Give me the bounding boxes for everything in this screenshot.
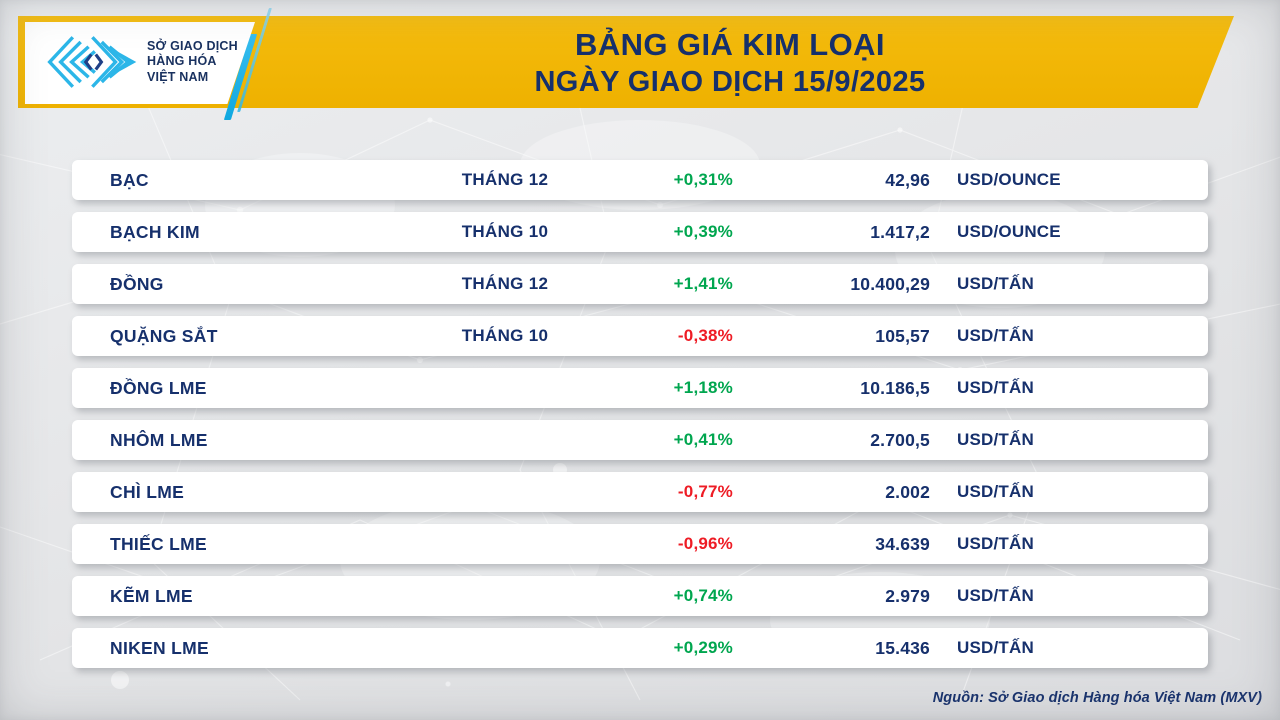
row-unit: USD/TẤN bbox=[957, 534, 1034, 554]
row-metal-name: ĐỒNG bbox=[110, 274, 164, 295]
row-change-percent: +0,74% bbox=[613, 586, 733, 606]
logo-text: SỞ GIAO DỊCH HÀNG HÓA VIỆT NAM bbox=[147, 39, 238, 86]
table-row[interactable]: QUẶNG SẮTTHÁNG 10-0,38%105,57USD/TẤN bbox=[72, 316, 1208, 356]
row-change-percent: +1,18% bbox=[613, 378, 733, 398]
price-table: BẠCTHÁNG 12+0,31%42,96USD/OUNCEBẠCH KIMT… bbox=[72, 160, 1208, 680]
row-unit: USD/OUNCE bbox=[957, 170, 1061, 190]
row-price: 2.979 bbox=[760, 586, 930, 607]
row-change-percent: +0,41% bbox=[613, 430, 733, 450]
row-price: 2.700,5 bbox=[760, 430, 930, 451]
logo: ™ SỞ GIAO DỊCH HÀNG HÓA VIỆT NAM bbox=[45, 33, 238, 91]
row-unit: USD/TẤN bbox=[957, 586, 1034, 606]
row-metal-name: ĐỒNG LME bbox=[110, 378, 207, 399]
row-unit: USD/TẤN bbox=[957, 638, 1034, 658]
row-price: 15.436 bbox=[760, 638, 930, 659]
table-row[interactable]: THIẾC LME-0,96%34.639USD/TẤN bbox=[72, 524, 1208, 564]
row-unit: USD/OUNCE bbox=[957, 222, 1061, 242]
table-row[interactable]: NHÔM LME+0,41%2.700,5USD/TẤN bbox=[72, 420, 1208, 460]
row-unit: USD/TẤN bbox=[957, 274, 1034, 294]
page-title: BẢNG GIÁ KIM LOẠI NGÀY GIAO DỊCH 15/9/20… bbox=[300, 20, 1160, 106]
row-metal-name: KẼM LME bbox=[110, 586, 193, 607]
row-metal-name: NHÔM LME bbox=[110, 430, 208, 451]
row-unit: USD/TẤN bbox=[957, 482, 1034, 502]
title-secondary: NGÀY GIAO DỊCH 15/9/2025 bbox=[534, 64, 925, 100]
row-change-percent: +0,31% bbox=[613, 170, 733, 190]
source-note: Nguồn: Sở Giao dịch Hàng hóa Việt Nam (M… bbox=[933, 690, 1262, 706]
row-metal-name: NIKEN LME bbox=[110, 638, 209, 659]
row-contract-month: THÁNG 12 bbox=[410, 170, 600, 190]
logo-text-line2: HÀNG HÓA bbox=[147, 54, 238, 70]
row-contract-month: THÁNG 10 bbox=[410, 222, 600, 242]
row-change-percent: +0,29% bbox=[613, 638, 733, 658]
row-metal-name: THIẾC LME bbox=[110, 534, 207, 555]
row-change-percent: +1,41% bbox=[613, 274, 733, 294]
row-change-percent: -0,77% bbox=[613, 482, 733, 502]
table-row[interactable]: KẼM LME+0,74%2.979USD/TẤN bbox=[72, 576, 1208, 616]
row-metal-name: CHÌ LME bbox=[110, 482, 184, 503]
row-unit: USD/TẤN bbox=[957, 430, 1034, 450]
row-price: 34.639 bbox=[760, 534, 930, 555]
row-price: 10.186,5 bbox=[760, 378, 930, 399]
row-change-percent: -0,38% bbox=[613, 326, 733, 346]
table-row[interactable]: ĐỒNG LME+1,18%10.186,5USD/TẤN bbox=[72, 368, 1208, 408]
table-row[interactable]: NIKEN LME+0,29%15.436USD/TẤN bbox=[72, 628, 1208, 668]
row-change-percent: +0,39% bbox=[613, 222, 733, 242]
table-row[interactable]: BẠCTHÁNG 12+0,31%42,96USD/OUNCE bbox=[72, 160, 1208, 200]
header: ™ SỞ GIAO DỊCH HÀNG HÓA VIỆT NAM BẢNG GI… bbox=[0, 0, 1280, 118]
row-change-percent: -0,96% bbox=[613, 534, 733, 554]
row-unit: USD/TẤN bbox=[957, 326, 1034, 346]
table-row[interactable]: CHÌ LME-0,77%2.002USD/TẤN bbox=[72, 472, 1208, 512]
row-price: 2.002 bbox=[760, 482, 930, 503]
row-price: 105,57 bbox=[760, 326, 930, 347]
logo-card: ™ SỞ GIAO DỊCH HÀNG HÓA VIỆT NAM bbox=[25, 22, 255, 104]
row-metal-name: QUẶNG SẮT bbox=[110, 326, 218, 347]
table-row[interactable]: ĐỒNGTHÁNG 12+1,41%10.400,29USD/TẤN bbox=[72, 264, 1208, 304]
title-primary: BẢNG GIÁ KIM LOẠI bbox=[575, 26, 885, 64]
row-price: 1.417,2 bbox=[760, 222, 930, 243]
row-metal-name: BẠCH KIM bbox=[110, 222, 200, 243]
row-contract-month: THÁNG 12 bbox=[410, 274, 600, 294]
logo-text-line3: VIỆT NAM bbox=[147, 70, 238, 86]
row-contract-month: THÁNG 10 bbox=[410, 326, 600, 346]
row-price: 42,96 bbox=[760, 170, 930, 191]
mxv-geometric-logo-icon bbox=[45, 33, 139, 91]
logo-text-line1: SỞ GIAO DỊCH bbox=[147, 39, 238, 55]
row-unit: USD/TẤN bbox=[957, 378, 1034, 398]
row-price: 10.400,29 bbox=[760, 274, 930, 295]
row-metal-name: BẠC bbox=[110, 170, 149, 191]
metal-price-board: ™ SỞ GIAO DỊCH HÀNG HÓA VIỆT NAM BẢNG GI… bbox=[0, 0, 1280, 720]
table-row[interactable]: BẠCH KIMTHÁNG 10+0,39%1.417,2USD/OUNCE bbox=[72, 212, 1208, 252]
